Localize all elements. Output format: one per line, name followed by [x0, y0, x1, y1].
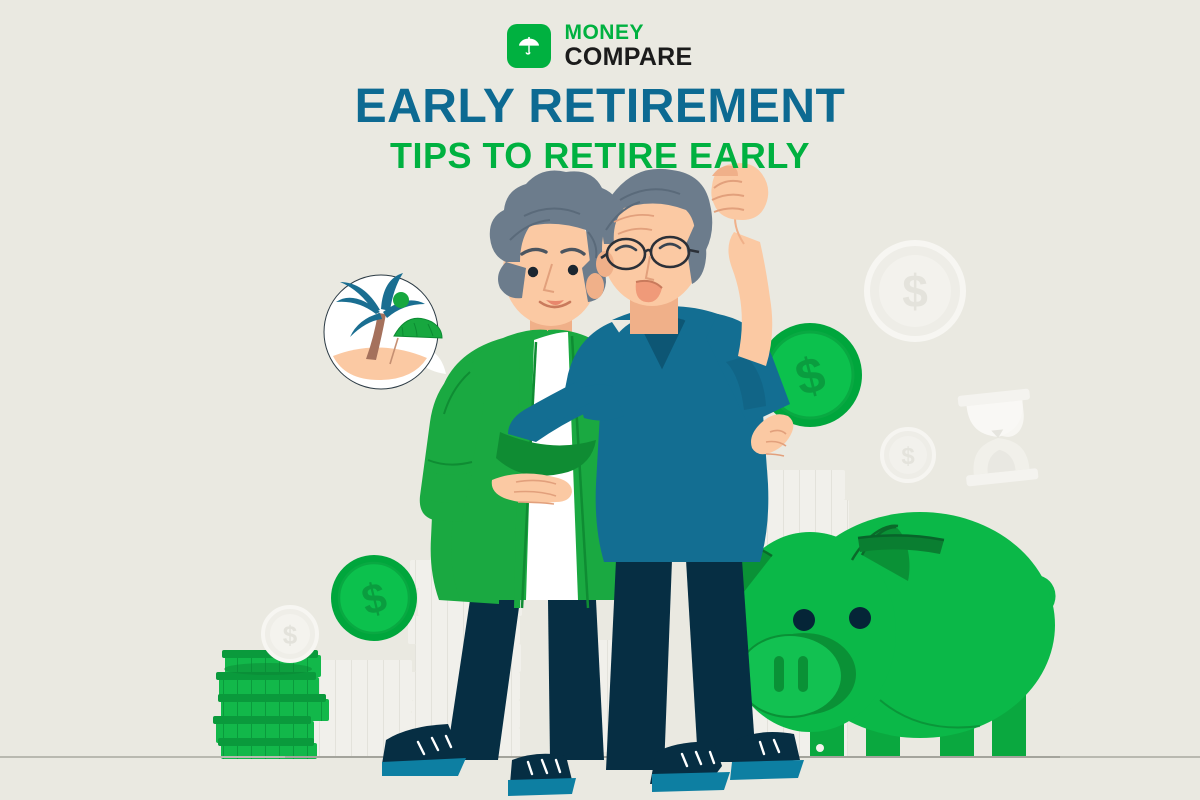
svg-text:$: $ [283, 620, 298, 650]
brand-line-compare: COMPARE [564, 45, 692, 70]
coin-white-small: $ [882, 429, 934, 481]
coin-white-behind-cash: $ [263, 607, 317, 661]
poster-canvas: $ $ $ [0, 0, 1200, 800]
coin-white-large: $ [867, 243, 963, 339]
brand-wordmark: MONEY COMPARE [564, 22, 692, 70]
svg-text:$: $ [901, 443, 915, 470]
brand-line-money: MONEY [564, 22, 692, 43]
headline-block: EARLY RETIREMENT TIPS TO RETIRE EARLY [0, 82, 1200, 176]
coin-green-small: $ [331, 555, 417, 641]
page-subtitle: TIPS TO RETIRE EARLY [0, 136, 1200, 176]
cash-stack-green [213, 650, 329, 759]
svg-text:$: $ [902, 265, 928, 317]
page-title: EARLY RETIREMENT [0, 82, 1200, 132]
brand-lockup: MONEY COMPARE [0, 22, 1200, 70]
brand-mark [507, 24, 551, 68]
umbrella-icon [516, 33, 542, 59]
